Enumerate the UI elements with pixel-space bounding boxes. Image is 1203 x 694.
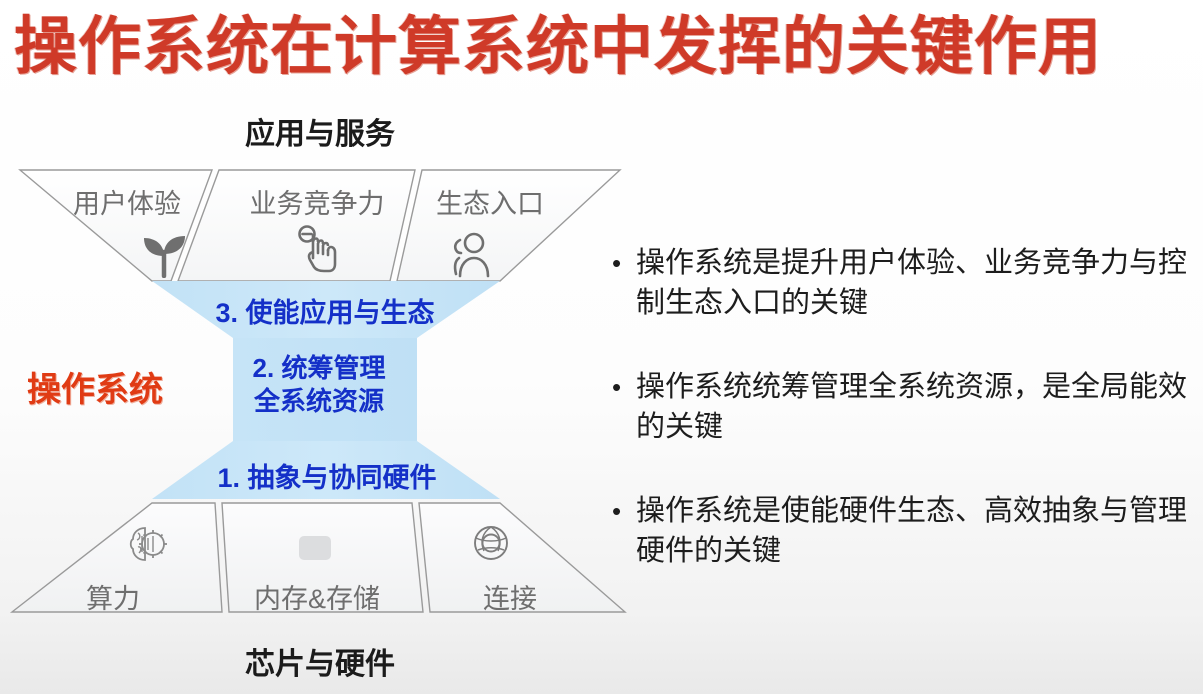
memory-chip-icon (292, 525, 338, 571)
core-layer-2-line1: 2. 统筹管理 (214, 352, 424, 385)
operating-system-label: 操作系统 (4, 362, 186, 411)
top-panel-label-user-experience: 用户体验 (52, 182, 202, 221)
core-layer-2-line2: 全系统资源 (214, 385, 424, 418)
slide-root: 操作系统在计算系统中发挥的关键作用 应用与服务 芯片与硬件 (0, 0, 1203, 694)
top-panel-label-business-competitiveness: 业务竞争力 (228, 182, 406, 221)
core-layer-1-label: 1. 抽象与协同硬件 (150, 456, 504, 495)
core-layer-2-label: 2. 统筹管理 全系统资源 (214, 352, 424, 418)
bullet-text-2: 操作系统统筹管理全系统资源，是全局能效的关键 (636, 367, 1197, 447)
network-icon (468, 520, 514, 566)
bullet-marker-icon: • (612, 491, 636, 531)
bullet-marker-icon: • (612, 367, 636, 407)
brain-gear-icon (124, 521, 170, 567)
bullet-list: • 操作系统是提升用户体验、业务竞争力与控制生态入口的关键 • 操作系统统筹管理… (612, 243, 1197, 615)
hand-click-icon (292, 222, 344, 274)
bullet-marker-icon: • (612, 243, 636, 283)
bullet-text-1: 操作系统是提升用户体验、业务竞争力与控制生态入口的关键 (636, 243, 1197, 323)
list-item: • 操作系统是提升用户体验、业务竞争力与控制生态入口的关键 (612, 243, 1197, 323)
bottom-panel-label-connectivity: 连接 (440, 577, 580, 616)
bottom-panel-label-compute: 算力 (38, 577, 188, 616)
users-icon (443, 228, 495, 280)
top-panel-label-ecosystem-entry: 生态入口 (420, 182, 560, 221)
core-layer-3-label: 3. 使能应用与生态 (148, 291, 502, 330)
list-item: • 操作系统统筹管理全系统资源，是全局能效的关键 (612, 367, 1197, 447)
list-item: • 操作系统是使能硬件生态、高效抽象与管理硬件的关键 (612, 491, 1197, 571)
sprout-icon (138, 226, 190, 278)
bottom-panel-label-memory-storage: 内存&存储 (222, 577, 412, 616)
bullet-text-3: 操作系统是使能硬件生态、高效抽象与管理硬件的关键 (636, 491, 1197, 571)
